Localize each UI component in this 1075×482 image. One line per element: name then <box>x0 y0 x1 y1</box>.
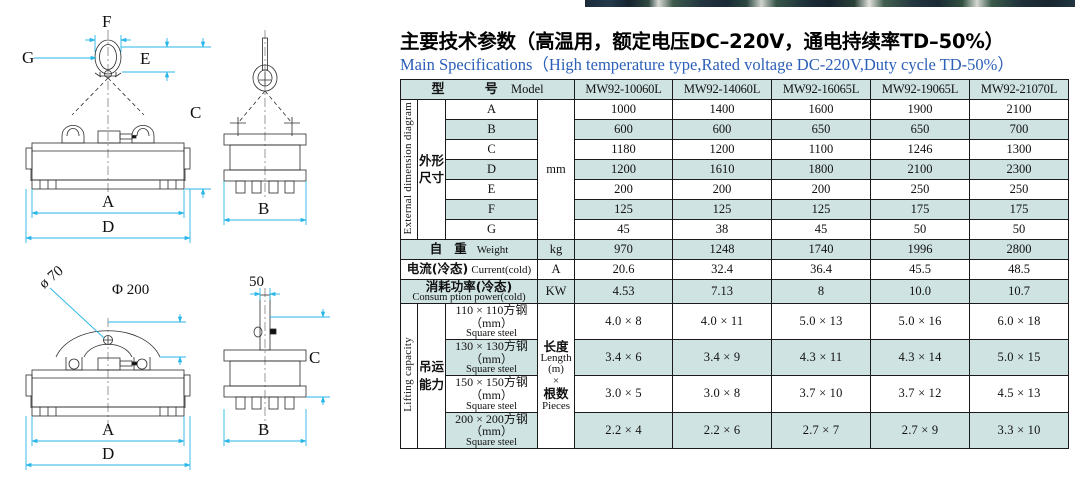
dim-label-A-bottom: A <box>102 420 115 439</box>
group-label-lifting-en: Lifting capacity <box>401 303 418 448</box>
side-view-drawing <box>224 30 306 200</box>
cell-A-2: 1600 <box>772 99 871 119</box>
capacity-unit-cell: 长度 Length (m) × 根数 Pieces <box>538 303 575 448</box>
cell-weight-4: 2800 <box>970 239 1069 259</box>
table-row-weight: 自重Weight kg 970 1248 1740 1996 2800 <box>401 239 1069 259</box>
cell-F-0: 125 <box>575 199 673 219</box>
cell-B-2: 650 <box>772 119 871 139</box>
cell-B-1: 600 <box>673 119 772 139</box>
header-model-1: MW92-14060L <box>673 79 772 99</box>
header-model-2: MW92-16065L <box>772 79 871 99</box>
cell-F-2: 125 <box>772 199 871 219</box>
dim-label-diameter-70: ø 70 <box>36 263 66 292</box>
cell-current-4: 48.5 <box>970 259 1069 279</box>
dim-row-label-B: B <box>446 119 538 139</box>
capacity-spec-200: 200 × 200方钢（mm） Square steel <box>446 412 538 448</box>
cell-C-2: 1100 <box>772 139 871 159</box>
cell-G-3: 50 <box>871 219 970 239</box>
header-model-4: MW92-21070L <box>970 79 1069 99</box>
cell-current-2: 36.4 <box>772 259 871 279</box>
dim-row-label-E: E <box>446 179 538 199</box>
cell-cap130-3: 4.3 × 14 <box>871 340 970 376</box>
header-model-cn-1: 型 <box>431 82 444 97</box>
cell-weight-2: 1740 <box>772 239 871 259</box>
cell-weight-0: 970 <box>575 239 673 259</box>
dim-label-G: G <box>22 48 34 67</box>
dim-unit-mm: mm <box>538 99 575 239</box>
row-label-power: 消耗功率(冷态) Consum ption power(cold) <box>401 279 538 303</box>
cell-D-1: 1610 <box>673 159 772 179</box>
cell-cap150-2: 3.7 × 10 <box>772 376 871 412</box>
unit-weight: kg <box>538 239 575 259</box>
dim-label-B-side: B <box>258 199 269 218</box>
spec-title-en: Main Specifications（High temperature typ… <box>400 55 1068 74</box>
row-label-weight: 自重Weight <box>401 239 538 259</box>
front-view-drawing <box>26 30 190 200</box>
cell-cap110-2: 5.0 × 13 <box>772 303 871 339</box>
cell-cap150-4: 4.5 × 13 <box>970 376 1069 412</box>
group-label-lifting-cn: 吊运能力 <box>418 303 446 448</box>
table-row-dim-F: F 125 125 125 175 175 <box>401 199 1069 219</box>
cell-current-1: 32.4 <box>673 259 772 279</box>
cell-cap150-0: 3.0 × 5 <box>575 376 673 412</box>
table-row-dim-B: B 600 600 650 650 700 <box>401 119 1069 139</box>
header-model-en: Model <box>511 82 544 96</box>
bottom-front-view-drawing <box>26 318 190 430</box>
cell-cap130-0: 3.4 × 6 <box>575 340 673 376</box>
header-model-3: MW92-19065L <box>871 79 970 99</box>
table-row-dim-A: External dimension diagram 外形尺寸 A mm 100… <box>401 99 1069 119</box>
cell-G-4: 50 <box>970 219 1069 239</box>
dim-label-D-front: D <box>102 217 114 236</box>
cell-cap200-3: 2.7 × 9 <box>871 412 970 448</box>
spec-title-cn: 主要技术参数（高温用，额定电压DC–220V，通电持续率TD–50%） <box>400 30 1068 54</box>
table-row-capacity-150: 150 × 150方钢（mm） Square steel 3.0 × 5 3.0… <box>401 376 1069 412</box>
bottom-side-view-drawing <box>224 288 306 430</box>
cell-C-3: 1246 <box>871 139 970 159</box>
unit-current: A <box>538 259 575 279</box>
cell-A-3: 1900 <box>871 99 970 119</box>
unit-power: KW <box>538 279 575 303</box>
cell-A-4: 2100 <box>970 99 1069 119</box>
table-row-dim-E: E 200 200 200 250 250 <box>401 179 1069 199</box>
cell-E-0: 200 <box>575 179 673 199</box>
dim-label-F: F <box>102 12 111 31</box>
dim-row-label-G: G <box>446 219 538 239</box>
cell-power-3: 10.0 <box>871 279 970 303</box>
dim-label-C-front: C <box>190 103 201 122</box>
dim-label-B-bottom: B <box>258 420 269 439</box>
cell-A-0: 1000 <box>575 99 673 119</box>
cell-C-0: 1180 <box>575 139 673 159</box>
dim-row-label-D: D <box>446 159 538 179</box>
cell-G-2: 45 <box>772 219 871 239</box>
cell-cap130-4: 5.0 × 15 <box>970 340 1069 376</box>
dim-label-D-bottom: D <box>102 444 114 463</box>
row-label-current: 电流(冷态) Current(cold) <box>401 259 538 279</box>
capacity-spec-150: 150 × 150方钢（mm） Square steel <box>446 376 538 412</box>
dim-label-C-bottom: C <box>309 348 320 367</box>
technical-drawings-panel: F G E C A D B A D C B ø 70 Φ 200 50 <box>0 0 395 482</box>
cell-power-4: 10.7 <box>970 279 1069 303</box>
cell-power-2: 8 <box>772 279 871 303</box>
cell-current-3: 45.5 <box>871 259 970 279</box>
dim-label-E: E <box>140 49 150 68</box>
table-row-current: 电流(冷态) Current(cold) A 20.6 32.4 36.4 45… <box>401 259 1069 279</box>
dim-row-label-A: A <box>446 99 538 119</box>
table-row-dim-C: C 1180 1200 1100 1246 1300 <box>401 139 1069 159</box>
cell-E-3: 250 <box>871 179 970 199</box>
group-label-external-en: External dimension diagram <box>401 99 418 239</box>
cell-E-2: 200 <box>772 179 871 199</box>
cell-F-4: 175 <box>970 199 1069 219</box>
table-row-dim-D: D 1200 1610 1800 2100 2300 <box>401 159 1069 179</box>
drawings-svg: F G E C A D B A D C B ø 70 Φ 200 50 <box>0 0 395 482</box>
cell-D-0: 1200 <box>575 159 673 179</box>
group-label-external-cn: 外形尺寸 <box>418 99 446 239</box>
cell-B-4: 700 <box>970 119 1069 139</box>
cell-C-1: 1200 <box>673 139 772 159</box>
cell-D-2: 1800 <box>772 159 871 179</box>
cell-C-4: 1300 <box>970 139 1069 159</box>
cell-cap110-1: 4.0 × 11 <box>673 303 772 339</box>
table-row-capacity-200: 200 × 200方钢（mm） Square steel 2.2 × 4 2.2… <box>401 412 1069 448</box>
capacity-spec-110: 110 × 110方钢（mm） Square steel <box>446 303 538 339</box>
cell-E-4: 250 <box>970 179 1069 199</box>
cell-power-0: 4.53 <box>575 279 673 303</box>
cell-cap130-1: 3.4 × 9 <box>673 340 772 376</box>
cell-G-0: 45 <box>575 219 673 239</box>
cell-A-1: 1400 <box>673 99 772 119</box>
header-model-cn-2: 号 <box>485 82 498 97</box>
specifications-panel: 主要技术参数（高温用，额定电压DC–220V，通电持续率TD–50%） Main… <box>400 30 1068 449</box>
cell-D-3: 2100 <box>871 159 970 179</box>
cell-cap200-0: 2.2 × 4 <box>575 412 673 448</box>
cell-D-4: 2300 <box>970 159 1069 179</box>
dim-row-label-F: F <box>446 199 538 219</box>
dim-label-diameter-200: Φ 200 <box>112 282 149 298</box>
dim-label-50: 50 <box>249 274 264 290</box>
cell-cap200-2: 2.7 × 7 <box>772 412 871 448</box>
capacity-spec-130: 130 × 130方钢（mm） Square steel <box>446 340 538 376</box>
cell-cap110-4: 6.0 × 18 <box>970 303 1069 339</box>
header-model-cell: 型 号 Model <box>401 79 575 99</box>
cell-cap200-4: 3.3 × 10 <box>970 412 1069 448</box>
cell-F-3: 175 <box>871 199 970 219</box>
table-row-dim-G: G 45 38 45 50 50 <box>401 219 1069 239</box>
cell-cap110-0: 4.0 × 8 <box>575 303 673 339</box>
cell-cap150-1: 3.0 × 8 <box>673 376 772 412</box>
cell-weight-3: 1996 <box>871 239 970 259</box>
table-header-row: 型 号 Model MW92-10060L MW92-14060L MW92-1… <box>401 79 1069 99</box>
table-row-power: 消耗功率(冷态) Consum ption power(cold) KW 4.5… <box>401 279 1069 303</box>
cell-E-1: 200 <box>673 179 772 199</box>
cell-current-0: 20.6 <box>575 259 673 279</box>
cell-F-1: 125 <box>673 199 772 219</box>
cell-B-0: 600 <box>575 119 673 139</box>
cell-G-1: 38 <box>673 219 772 239</box>
table-row-capacity-110: Lifting capacity 吊运能力 110 × 110方钢（mm） Sq… <box>401 303 1069 339</box>
cropped-photo-banner <box>585 0 1075 7</box>
cell-cap150-3: 3.7 × 12 <box>871 376 970 412</box>
cell-power-1: 7.13 <box>673 279 772 303</box>
dim-label-A-front: A <box>102 192 115 211</box>
cell-cap200-1: 2.2 × 6 <box>673 412 772 448</box>
dim-row-label-C: C <box>446 139 538 159</box>
cell-B-3: 650 <box>871 119 970 139</box>
cell-cap130-2: 4.3 × 11 <box>772 340 871 376</box>
specifications-table: 型 号 Model MW92-10060L MW92-14060L MW92-1… <box>400 79 1069 449</box>
cell-weight-1: 1248 <box>673 239 772 259</box>
header-model-0: MW92-10060L <box>575 79 673 99</box>
table-row-capacity-130: 130 × 130方钢（mm） Square steel 3.4 × 6 3.4… <box>401 340 1069 376</box>
cell-cap110-3: 5.0 × 16 <box>871 303 970 339</box>
